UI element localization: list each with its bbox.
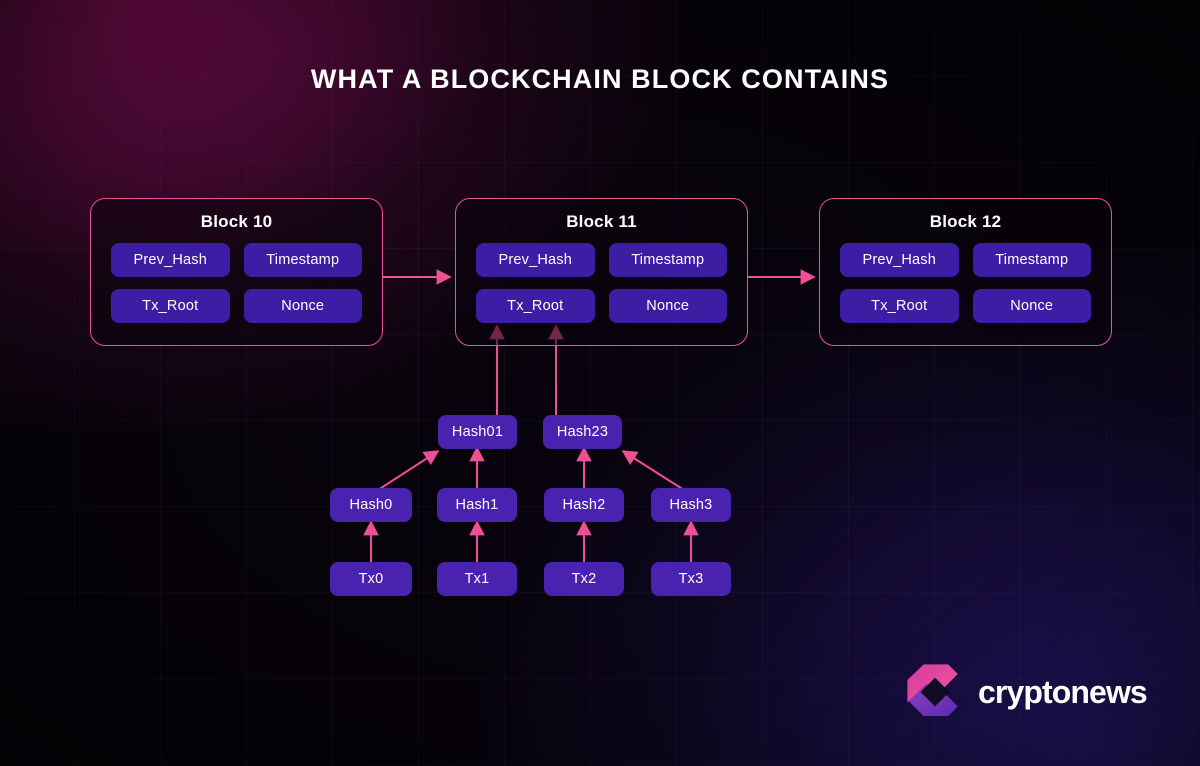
field-nonce[interactable]: Nonce: [244, 289, 363, 323]
cryptonews-logo[interactable]: cryptonews: [905, 662, 1147, 722]
field-timestamp[interactable]: Timestamp: [244, 243, 363, 277]
field-nonce[interactable]: Nonce: [973, 289, 1092, 323]
merkle-leaf-hash1[interactable]: Hash1: [437, 488, 517, 522]
merkle-leaf-hash2[interactable]: Hash2: [544, 488, 624, 522]
block-fields: Prev_Hash Timestamp Tx_Root Nonce: [476, 243, 727, 323]
transaction-tx2[interactable]: Tx2: [544, 562, 624, 596]
field-prev-hash[interactable]: Prev_Hash: [840, 243, 959, 277]
block-card-10[interactable]: Block 10 Prev_Hash Timestamp Tx_Root Non…: [90, 198, 383, 346]
merkle-node-hash23[interactable]: Hash23: [543, 415, 622, 449]
field-tx-root[interactable]: Tx_Root: [476, 289, 595, 323]
transaction-tx3[interactable]: Tx3: [651, 562, 731, 596]
field-tx-root[interactable]: Tx_Root: [111, 289, 230, 323]
field-nonce[interactable]: Nonce: [609, 289, 728, 323]
arrow-hash3-to-hash23: [629, 455, 684, 490]
field-tx-root[interactable]: Tx_Root: [840, 289, 959, 323]
block-title: Block 11: [456, 212, 747, 232]
grid-overlay: [0, 0, 1200, 766]
connector-layer: [0, 0, 1200, 766]
block-fields: Prev_Hash Timestamp Tx_Root Nonce: [111, 243, 362, 323]
cryptonews-logo-icon: [905, 662, 965, 722]
merkle-leaf-hash0[interactable]: Hash0: [330, 488, 412, 522]
infographic-canvas: WHAT A BLOCKCHAIN BLOCK CONTAINS: [0, 0, 1200, 766]
cryptonews-logo-text: cryptonews: [978, 674, 1147, 711]
merkle-node-hash01[interactable]: Hash01: [438, 415, 517, 449]
field-prev-hash[interactable]: Prev_Hash: [476, 243, 595, 277]
transaction-tx0[interactable]: Tx0: [330, 562, 412, 596]
transaction-tx1[interactable]: Tx1: [437, 562, 517, 596]
merkle-leaf-hash3[interactable]: Hash3: [651, 488, 731, 522]
field-timestamp[interactable]: Timestamp: [609, 243, 728, 277]
field-timestamp[interactable]: Timestamp: [973, 243, 1092, 277]
block-card-11[interactable]: Block 11 Prev_Hash Timestamp Tx_Root Non…: [455, 198, 748, 346]
page-title: WHAT A BLOCKCHAIN BLOCK CONTAINS: [0, 64, 1200, 95]
block-card-12[interactable]: Block 12 Prev_Hash Timestamp Tx_Root Non…: [819, 198, 1112, 346]
block-fields: Prev_Hash Timestamp Tx_Root Nonce: [840, 243, 1091, 323]
field-prev-hash[interactable]: Prev_Hash: [111, 243, 230, 277]
arrow-hash0-to-hash01: [378, 455, 432, 490]
block-title: Block 10: [91, 212, 382, 232]
vignette-overlay: [0, 0, 1200, 766]
block-title: Block 12: [820, 212, 1111, 232]
